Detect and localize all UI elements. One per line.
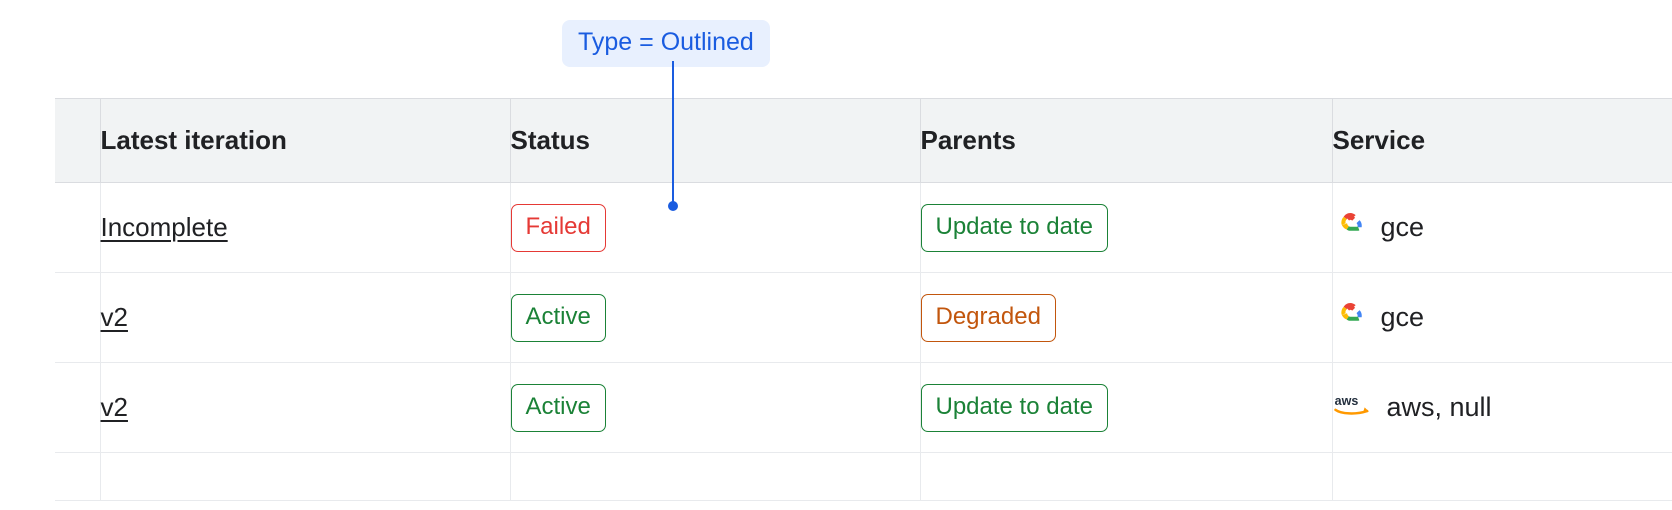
table-row[interactable]: Incomplete Failed Update to date — [55, 183, 1672, 273]
iteration-link[interactable]: Incomplete — [101, 212, 228, 242]
table-header: Latest iteration Status Parents Service — [55, 99, 1672, 183]
table-row[interactable] — [55, 453, 1672, 501]
cell-parents — [920, 453, 1332, 501]
row-select-cell[interactable] — [55, 363, 100, 453]
status-badge[interactable]: Failed — [511, 204, 606, 252]
cell-parents: Update to date — [920, 183, 1332, 273]
cell-status: Failed — [510, 183, 920, 273]
row-select-cell[interactable] — [55, 183, 100, 273]
cell-parents: Degraded — [920, 273, 1332, 363]
google-cloud-icon — [1333, 207, 1367, 248]
parents-badge[interactable]: Update to date — [921, 204, 1108, 252]
table-body: Incomplete Failed Update to date — [55, 183, 1672, 501]
cell-latest-iteration: v2 — [100, 363, 510, 453]
iteration-link[interactable]: v2 — [101, 302, 128, 332]
cell-parents: Update to date — [920, 363, 1332, 453]
cell-service: aws aws, null — [1332, 363, 1672, 453]
cell-status: Active — [510, 363, 920, 453]
status-badge[interactable]: Active — [511, 294, 606, 342]
status-badge[interactable]: Active — [511, 384, 606, 432]
column-header-latest-iteration[interactable]: Latest iteration — [100, 99, 510, 183]
column-header-select — [55, 99, 100, 183]
table-header-row: Latest iteration Status Parents Service — [55, 99, 1672, 183]
cell-status — [510, 453, 920, 501]
iterations-table: Latest iteration Status Parents Service … — [55, 98, 1672, 501]
column-header-status[interactable]: Status — [510, 99, 920, 183]
cell-latest-iteration: v2 — [100, 273, 510, 363]
table-row[interactable]: v2 Active Degraded — [55, 273, 1672, 363]
aws-icon: aws — [1333, 390, 1373, 425]
annotation-callout-label: Type = Outlined — [562, 20, 770, 67]
column-header-service[interactable]: Service — [1332, 99, 1672, 183]
column-header-parents[interactable]: Parents — [920, 99, 1332, 183]
table-row[interactable]: v2 Active Update to date aws aw — [55, 363, 1672, 453]
cell-latest-iteration: Incomplete — [100, 183, 510, 273]
row-select-cell[interactable] — [55, 453, 100, 501]
cell-service: gce — [1332, 273, 1672, 363]
parents-badge[interactable]: Degraded — [921, 294, 1056, 342]
cell-service — [1332, 453, 1672, 501]
cell-status: Active — [510, 273, 920, 363]
service-label: aws, null — [1387, 392, 1492, 423]
cell-service: gce — [1332, 183, 1672, 273]
cell-latest-iteration — [100, 453, 510, 501]
row-select-cell[interactable] — [55, 273, 100, 363]
google-cloud-icon — [1333, 297, 1367, 338]
iteration-link[interactable]: v2 — [101, 392, 128, 422]
service-label: gce — [1381, 302, 1425, 333]
service-label: gce — [1381, 212, 1425, 243]
parents-badge[interactable]: Update to date — [921, 384, 1108, 432]
svg-text:aws: aws — [1334, 394, 1358, 408]
